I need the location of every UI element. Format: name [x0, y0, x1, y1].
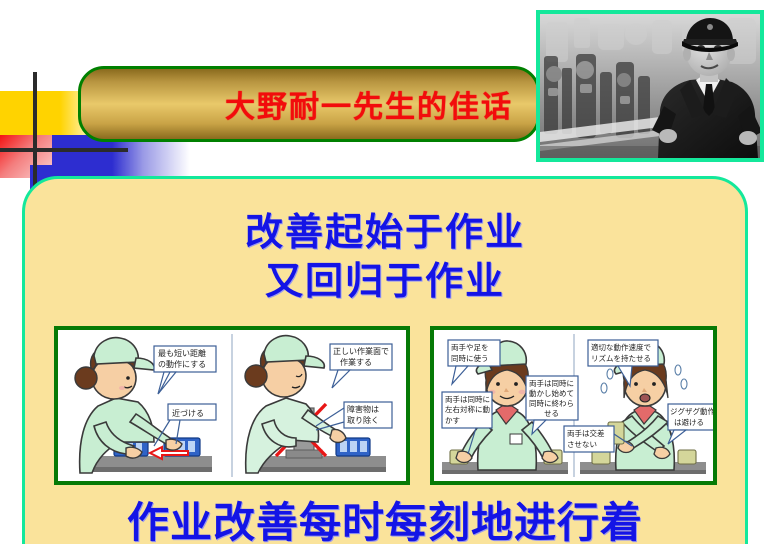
- illustration-left-svg: 最も短い距離 の動作にする 近づける: [58, 330, 406, 481]
- svg-text:せる: せる: [544, 409, 559, 418]
- svg-text:両手や足を: 両手や足を: [451, 342, 489, 352]
- illustration-right-group: 両手や足を 同時に使う 両手は同時に 左右対称に動 かす 両手は同時に 動かし始…: [430, 326, 717, 485]
- decoration-horizontal-line: [0, 148, 128, 152]
- header-title-bar: 大野耐一先生的佳话: [78, 66, 540, 142]
- svg-text:障害物は: 障害物は: [347, 404, 379, 414]
- bottom-heading: 作业改善每时每刻地进行着: [25, 489, 745, 544]
- svg-text:同時に使う: 同時に使う: [451, 353, 489, 363]
- svg-text:動かし始めて: 動かし始めて: [529, 388, 574, 398]
- photo-image: [540, 14, 760, 158]
- svg-text:適切な動作速度で: 適切な動作速度で: [591, 342, 651, 352]
- slide-canvas: 大野耐一先生的佳话: [0, 0, 771, 544]
- svg-text:両手は交差: 両手は交差: [567, 428, 605, 438]
- main-heading: 改善起始于作业 又回归于作业: [25, 209, 745, 306]
- main-heading-line2: 又回归于作业: [25, 258, 745, 307]
- svg-text:ジグザグ動作: ジグザグ動作: [670, 406, 713, 416]
- illustration-left-group: 最も短い距離 の動作にする 近づける: [54, 326, 410, 485]
- svg-text:は避ける: は避ける: [674, 417, 704, 427]
- svg-text:同時に終わら: 同時に終わら: [529, 398, 574, 408]
- illustration-right-svg: 両手や足を 同時に使う 両手は同時に 左右対称に動 かす 両手は同時に 動かし始…: [434, 330, 713, 481]
- svg-text:かす: かす: [445, 416, 460, 425]
- svg-text:させない: させない: [567, 440, 597, 449]
- svg-text:左右対称に動: 左右対称に動: [445, 404, 490, 414]
- svg-text:正しい作業面で: 正しい作業面で: [333, 346, 389, 356]
- taiichi-ohno-photo: [536, 10, 764, 162]
- svg-text:取り除く: 取り除く: [347, 415, 379, 425]
- svg-text:両手は同時に: 両手は同時に: [445, 394, 490, 404]
- header-title-text: 大野耐一先生的佳话: [105, 82, 513, 126]
- svg-text:作業する: 作業する: [340, 357, 372, 367]
- svg-text:近づける: 近づける: [172, 408, 204, 418]
- svg-text:両手は同時に: 両手は同時に: [529, 378, 574, 388]
- svg-text:最も短い距離: 最も短い距離: [158, 348, 206, 358]
- main-heading-line1: 改善起始于作业: [25, 209, 745, 258]
- svg-text:の動作にする: の動作にする: [158, 359, 206, 369]
- decoration-yellow-block: [0, 91, 60, 137]
- svg-text:リズムを持たせる: リズムを持たせる: [591, 353, 651, 363]
